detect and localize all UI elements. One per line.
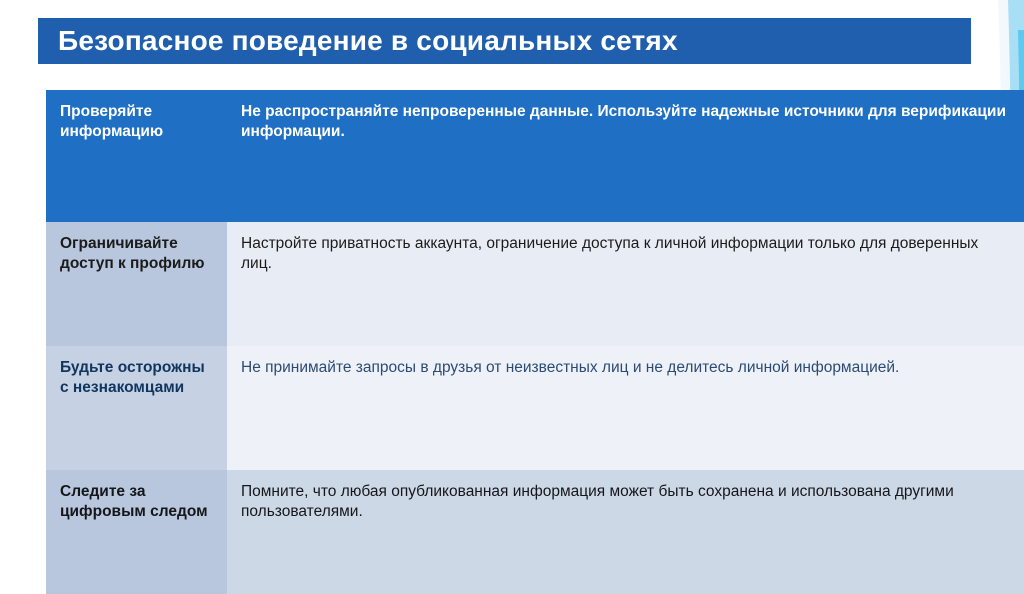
page-title: Безопасное поведение в социальных сетях xyxy=(38,25,678,57)
recommendations-table: Проверяйте информацию Не распространяйте… xyxy=(46,90,1024,594)
table-cell-text: Помните, что любая опубликованная информ… xyxy=(227,470,1024,594)
table-cell-text: Не принимайте запросы в друзья от неизве… xyxy=(227,346,1024,470)
table-row: Будьте осторожны с незнакомцами Не прини… xyxy=(46,346,1024,470)
table-cell-label: Ограничивайте доступ к профилю xyxy=(46,222,227,346)
table-cell-text: Не распространяйте непроверенные данные.… xyxy=(227,90,1024,222)
table-row: Ограничивайте доступ к профилю Настройте… xyxy=(46,222,1024,346)
table-cell-label: Следите за цифровым следом xyxy=(46,470,227,594)
table-cell-label: Проверяйте информацию xyxy=(46,90,227,222)
slide-title-bar: Безопасное поведение в социальных сетях xyxy=(38,18,971,64)
table-row: Следите за цифровым следом Помните, что … xyxy=(46,470,1024,594)
table-cell-label: Будьте осторожны с незнакомцами xyxy=(46,346,227,470)
table-row: Проверяйте информацию Не распространяйте… xyxy=(46,90,1024,222)
table-cell-text: Настройте приватность аккаунта, ограниче… xyxy=(227,222,1024,346)
